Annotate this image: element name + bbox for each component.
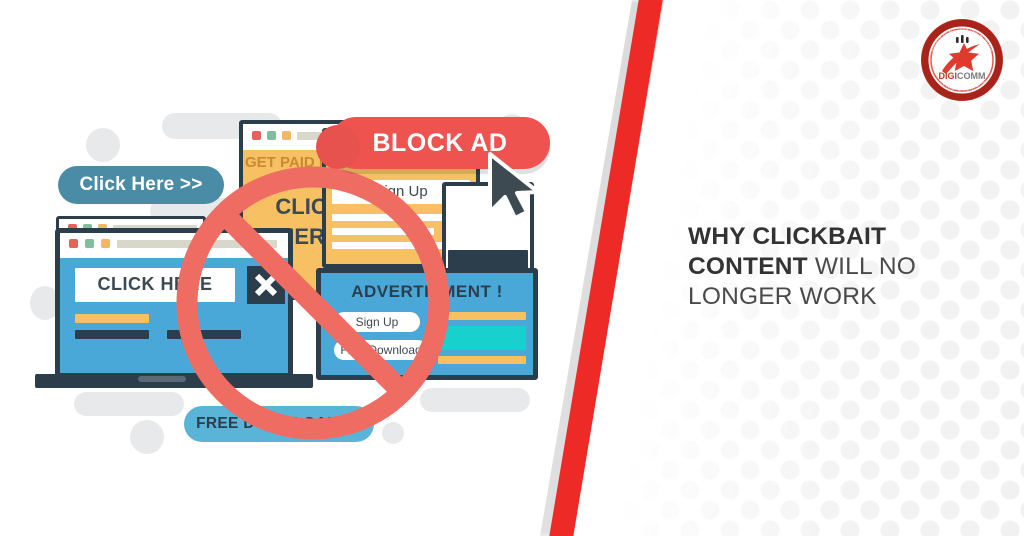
content-line bbox=[75, 330, 149, 339]
no-entry-icon bbox=[168, 158, 458, 448]
headline-line-3: LONGER WORK bbox=[688, 282, 988, 312]
window-dot-green bbox=[85, 239, 94, 248]
background-blob bbox=[130, 420, 164, 454]
digicomm-logo[interactable]: DIGICOMM ANSWER TO ALL YOUR DIGITAL NEED… bbox=[920, 18, 1004, 102]
page-title: WHY CLICKBAIT CONTENT WILL NO LONGER WOR… bbox=[688, 222, 988, 312]
headline-line-1: WHY CLICKBAIT bbox=[688, 222, 988, 252]
background-blob bbox=[86, 128, 120, 162]
content-line bbox=[75, 314, 149, 323]
window-dot-yellow bbox=[282, 131, 291, 140]
clickbait-illustration: GET PAID MONEY ! CLICK HERE MONEY ! Sign… bbox=[0, 0, 580, 536]
mouse-cursor-icon bbox=[484, 150, 546, 222]
window-dot-red bbox=[252, 131, 261, 140]
poster-canvas: GET PAID MONEY ! CLICK HERE MONEY ! Sign… bbox=[0, 0, 1024, 536]
headline-line-2: CONTENT WILL NO bbox=[688, 252, 988, 282]
window-dot-red bbox=[69, 239, 78, 248]
window-dot-yellow bbox=[101, 239, 110, 248]
window-dot-green bbox=[267, 131, 276, 140]
svg-text:DIGICOMM: DIGICOMM bbox=[938, 71, 985, 81]
